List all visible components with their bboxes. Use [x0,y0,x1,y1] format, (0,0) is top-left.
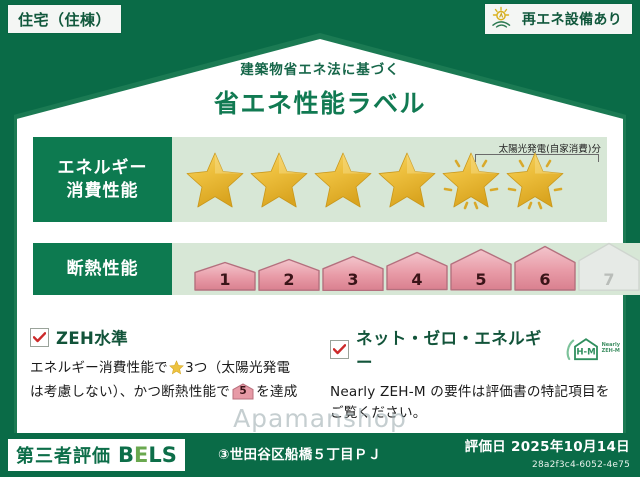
house-type-label: 住宅（住棟） [18,9,111,30]
nze-note-body: Nearly ZEH-M の要件は評価書の特記項目をご覧ください。 [330,382,620,424]
bels-en-label: BELS [118,443,177,467]
nze-note-header: ネット・ゼロ・エネルギー H-M Nearly ZEH-M [330,325,620,373]
insulation-chip-filled: 6 [514,249,576,295]
star-icon [184,149,246,211]
energy-performance-row: エネルギー 消費性能 太陽光発電(自家消費)分 [33,137,607,222]
bels-badge: 第三者評価 BELS [8,439,185,471]
checkmark-icon [330,340,349,359]
renewable-equipment-label: 再エネ設備あり [522,9,622,29]
zeh-note-text-c: は考慮しない）、かつ断熱性能で [30,384,230,400]
insulation-chip-filled: 2 [258,262,320,295]
title-subtitle: 建築物省エネ法に基づく [0,58,640,78]
insulation-performance-row: 断熱性能 1 [33,243,607,295]
star-icon-solar [440,149,502,211]
property-address: ③世田谷区船橋５丁目ＰＪ [218,443,382,463]
insulation-chip-filled: 3 [322,259,384,295]
energy-label-line1: エネルギー [58,157,148,179]
house-type-badge: 住宅（住棟） [8,5,121,33]
star-icon-solar [504,149,566,211]
star-icon [169,360,184,382]
zeh-m-logo-caption-line2: ZEH-M [602,348,620,354]
sun-icon [491,6,517,32]
star-icon [376,149,438,211]
label-canvas: 住宅（住棟） 再エネ設備あり 建築物省エネ法に基づく 省エネ性能ラベル [0,0,640,477]
insulation-chip-empty: 7 [578,246,640,295]
star-rating [172,149,566,211]
insulation-chip-number: 7 [603,270,614,295]
nze-note-title: ネット・ゼロ・エネルギー [356,325,555,373]
zeh-note-title: ZEH水準 [56,325,128,349]
renewable-equipment-badge: 再エネ設備あり [485,4,632,34]
zeh-note-text-a: エネルギー消費性能で [30,360,168,376]
bels-letter-e: E [134,443,148,467]
footer-bar: 第三者評価 BELS ③世田谷区船橋５丁目ＰＪ 評価日 2025年10月14日 … [0,433,640,477]
bels-jp-label: 第三者評価 [16,442,111,468]
star-icon [312,149,374,211]
page-title: 省エネ性能ラベル [0,84,640,120]
checkmark-icon [30,328,49,347]
insulation-chip-filled: 4 [386,255,448,295]
bels-letters-ls: LS [148,443,177,467]
insulation-chip-filled: 1 [194,265,256,295]
zeh-note-text-d: を達成 [256,384,297,400]
insulation-chip-number: 4 [411,270,422,295]
energy-rating-area: 太陽光発電(自家消費)分 [172,137,607,222]
zeh-m-logo-caption: Nearly ZEH-M [602,343,620,355]
svg-text:H-M: H-M [576,348,595,358]
zeh-note-text-b: 3つ（太陽光発電 [185,360,290,376]
insulation-chip-number: 1 [219,270,230,295]
inline-insulation-chip: 5 [232,383,254,400]
net-zero-energy-note: ネット・ゼロ・エネルギー H-M Nearly ZEH-M Nearly ZEH… [330,325,620,424]
bels-letter-b: B [118,443,134,467]
energy-label-line2: 消費性能 [67,180,139,202]
insulation-chip-number: 6 [539,270,550,295]
zeh-m-logo: H-M Nearly ZEH-M [566,336,620,362]
inline-chip-number: 5 [232,383,254,400]
insulation-label-text: 断熱性能 [67,258,139,280]
zeh-note-header: ZEH水準 [30,325,320,349]
insulation-chip-number: 3 [347,270,358,295]
insulation-level-chips: 1 2 [172,243,640,295]
insulation-performance-label: 断熱性能 [33,243,172,295]
insulation-chip-filled: 5 [450,252,512,295]
zeh-note-body: エネルギー消費性能で3つ（太陽光発電 は考慮しない）、かつ断熱性能で 5 を達成 [30,358,320,403]
label-uid: 28a2f3c4-6052-4e75 [532,460,630,470]
title-block: 建築物省エネ法に基づく 省エネ性能ラベル [0,58,640,120]
energy-performance-label: エネルギー 消費性能 [33,137,172,222]
insulation-rating-area: 1 2 [172,243,640,295]
insulation-chip-number: 2 [283,270,294,295]
evaluation-date: 評価日 2025年10月14日 [465,435,630,455]
star-icon [248,149,310,211]
insulation-chip-number: 5 [475,270,486,295]
zeh-standard-note: ZEH水準 エネルギー消費性能で3つ（太陽光発電 は考慮しない）、かつ断熱性能で… [30,325,320,403]
